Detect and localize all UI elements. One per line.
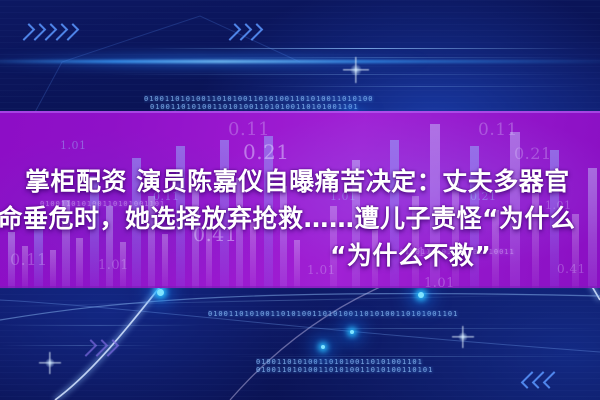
floating-number: 1.01 [60, 139, 87, 152]
binary-strip: 0100110101001101010011010100110101001101 [150, 103, 440, 111]
chevron-right-icon [228, 24, 259, 40]
chevron-right-icon [84, 340, 115, 356]
chart-bar [50, 250, 56, 288]
chart-bar [588, 168, 597, 288]
glow-dot [350, 330, 354, 334]
glow-dot [321, 345, 325, 349]
floating-number: 0.21 [514, 144, 552, 163]
star-sparkle-icon [343, 57, 369, 83]
glow-dot [418, 292, 424, 298]
chart-bar [76, 238, 83, 288]
glow-dot [157, 289, 164, 296]
floating-number: 0.41 [557, 262, 586, 276]
binary-strip: 01001101010011010100110101001101 [256, 358, 476, 366]
chevron-left-icon [525, 372, 556, 388]
floating-number: 0.11 [228, 119, 270, 140]
star-sparkle-icon [39, 352, 61, 374]
floating-number: 0.21 [243, 140, 290, 164]
binary-strip: 0100110101001101010011010100110101001101… [208, 310, 520, 318]
floating-number: 0.11 [478, 120, 518, 140]
banner-image: 0100110101001101010011010100110101001101… [0, 0, 600, 400]
band-top-edge [0, 111, 600, 113]
binary-strip: 0100110101001101010011010100110101001101… [144, 95, 444, 103]
headline-line-2: 生命垂危时，她选择放弃抢救……遭儿子责怪“为什么 [0, 200, 575, 237]
floating-number: 1.01 [98, 258, 129, 273]
floating-number: 0.11 [10, 250, 48, 269]
headline-line-3: “为什么不救” [330, 237, 491, 274]
headline-line-1: 掌柜配资 演员陈嘉仪自曝痛苦决定：丈夫多器官 [25, 163, 570, 200]
chart-bar [294, 240, 300, 288]
floating-number: 1.01 [424, 276, 455, 291]
chart-bar [162, 234, 168, 288]
band-bottom-edge [0, 286, 600, 288]
star-sparkle-icon [452, 326, 474, 348]
binary-strip: 0100110101001101010011010100110101 [256, 366, 476, 374]
chevron-right-icon [22, 24, 75, 40]
